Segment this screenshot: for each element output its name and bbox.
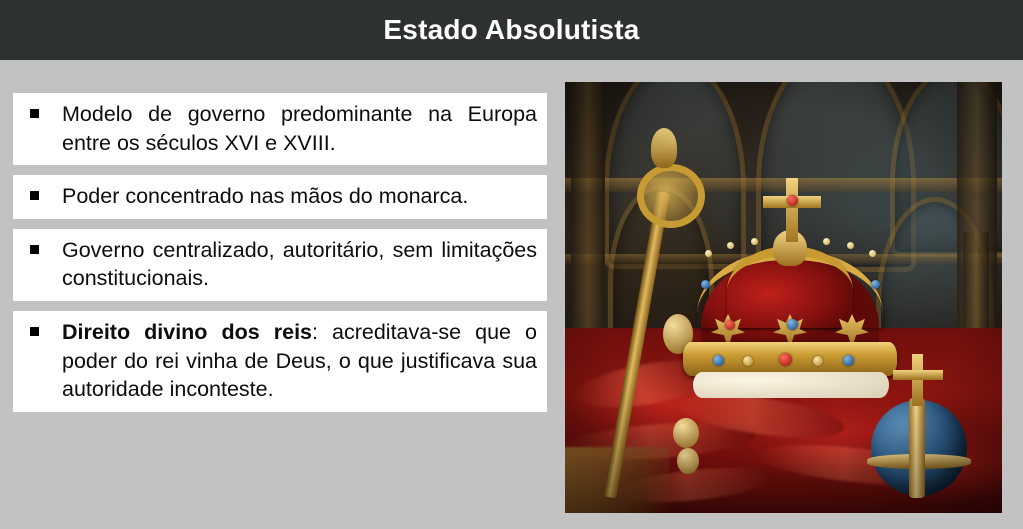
gem-red — [779, 353, 792, 366]
list-item: Poder concentrado nas mãos do monarca. — [13, 175, 547, 219]
square-bullet-icon — [30, 191, 39, 200]
bullet-lead-emphasis: Direito divino dos reis — [62, 320, 312, 344]
bullet-text: Modelo de governo predominante na Europa… — [62, 100, 537, 157]
scepter-staff — [603, 191, 670, 499]
pearl-decor — [869, 250, 876, 257]
scepter-knob — [677, 448, 699, 474]
slide-body: Modelo de governo predominante na Europa… — [0, 60, 1023, 529]
gem-blue — [713, 355, 724, 366]
title-bar: Estado Absolutista — [0, 0, 1023, 60]
orb-cross-horizontal — [893, 370, 943, 380]
bullet-text: Direito divino dos reis: acreditava-se q… — [62, 318, 537, 404]
list-item: Governo centralizado, autoritário, sem l… — [13, 229, 547, 301]
pearl-decor — [847, 242, 854, 249]
gem-gold — [743, 356, 753, 366]
bullet-text: Governo centralizado, autoritário, sem l… — [62, 236, 537, 293]
square-bullet-icon — [30, 245, 39, 254]
pearl-decor — [705, 250, 712, 257]
globus-cruciger — [865, 358, 975, 498]
slide: Estado Absolutista Modelo de governo pre… — [0, 0, 1023, 529]
gem-blue — [787, 319, 798, 330]
list-item: Direito divino dos reis: acreditava-se q… — [13, 311, 547, 412]
painting-canvas — [565, 82, 1002, 513]
page-title: Estado Absolutista — [383, 16, 639, 44]
bullet-list: Modelo de governo predominante na Europa… — [13, 93, 547, 422]
list-item: Modelo de governo predominante na Europa… — [13, 93, 547, 165]
pearl-decor — [823, 238, 830, 245]
scepter-finial — [651, 128, 677, 168]
bullet-text: Poder concentrado nas mãos do monarca. — [62, 182, 537, 211]
gem-red — [787, 195, 798, 206]
gem-red — [725, 320, 735, 330]
gem-blue — [871, 280, 880, 289]
ermine-fur-trim — [693, 372, 889, 398]
gem-gold — [813, 356, 823, 366]
gem-blue — [701, 280, 710, 289]
square-bullet-icon — [30, 109, 39, 118]
orb-cross-vertical — [912, 354, 923, 406]
pearl-decor — [751, 238, 758, 245]
scepter-knob — [673, 418, 699, 448]
square-bullet-icon — [30, 327, 39, 336]
gem-blue — [843, 355, 854, 366]
orb-band-vertical — [909, 398, 925, 498]
pearl-decor — [727, 242, 734, 249]
illustration-image — [565, 82, 1002, 513]
crown-cross-vertical — [786, 178, 798, 242]
